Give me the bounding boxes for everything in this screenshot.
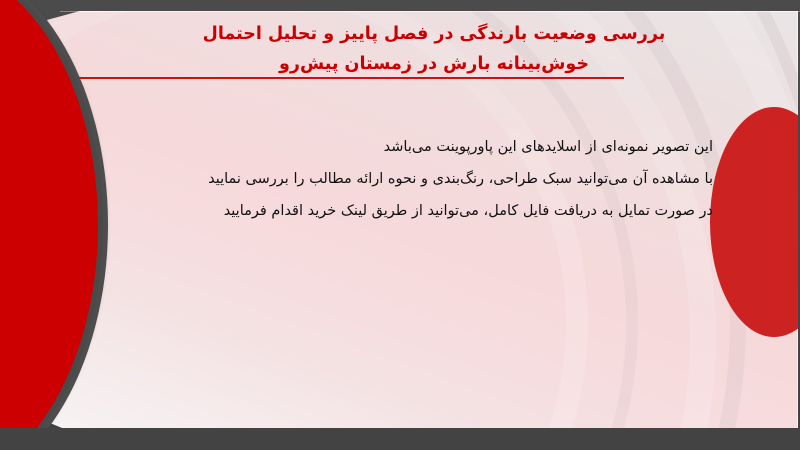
- slide-body-text: این تصویر نمونه‌ای از اسلایدهای این پاور…: [93, 131, 713, 227]
- slide-content-panel: بررسی وضعیت بارندگی در فصل پاییز و تحلیل…: [34, 11, 798, 429]
- slide-bottom-bar: [0, 428, 800, 450]
- body-line-1: این تصویر نمونه‌ای از اسلایدهای این پاور…: [93, 131, 713, 163]
- title-underline-rule: [66, 77, 624, 79]
- panel-top-hairline: [60, 11, 800, 12]
- slide-title-line-1: بررسی وضعیت بارندگی در فصل پاییز و تحلیل…: [134, 19, 734, 49]
- body-line-2: با مشاهده آن می‌توانید سبک طراحی، رنگ‌بن…: [93, 163, 713, 195]
- body-line-3: در صورت تمایل به دریافت فایل کامل، می‌تو…: [93, 195, 713, 227]
- slide-title: بررسی وضعیت بارندگی در فصل پاییز و تحلیل…: [134, 19, 734, 79]
- slide-title-line-2: خوش‌بینانه بارش در زمستان پیش‌رو: [134, 49, 734, 79]
- presentation-slide: بررسی وضعیت بارندگی در فصل پاییز و تحلیل…: [0, 0, 800, 450]
